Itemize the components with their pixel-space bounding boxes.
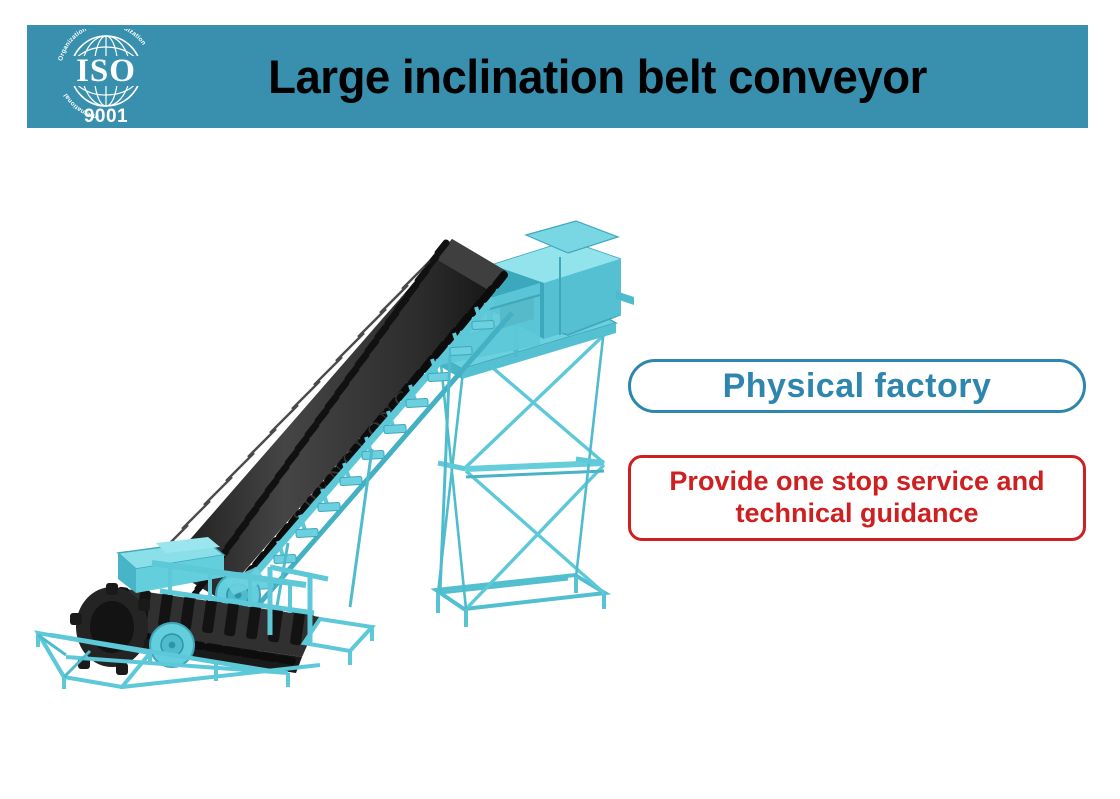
physical-factory-label: Physical factory	[723, 367, 992, 406]
header-band: ISO Organization for Standardization Int…	[27, 25, 1088, 128]
physical-factory-callout: Physical factory	[628, 359, 1086, 413]
conveyor-illustration: SHENGLONG	[20, 195, 640, 690]
service-note-line-2: technical guidance	[735, 498, 978, 528]
service-note-text: Provide one stop service and technical g…	[669, 466, 1044, 529]
iso-9001-logo: ISO Organization for Standardization Int…	[51, 29, 161, 127]
service-note-line-1: Provide one stop service and	[669, 466, 1044, 496]
svg-text:ISO: ISO	[76, 53, 136, 89]
iso-standard-number: 9001	[84, 106, 128, 127]
product-image: SHENGLONG	[20, 195, 640, 690]
service-note-callout: Provide one stop service and technical g…	[628, 455, 1086, 541]
page-title: Large inclination belt conveyor	[180, 25, 1015, 128]
feed-drive-pulley	[150, 623, 194, 667]
